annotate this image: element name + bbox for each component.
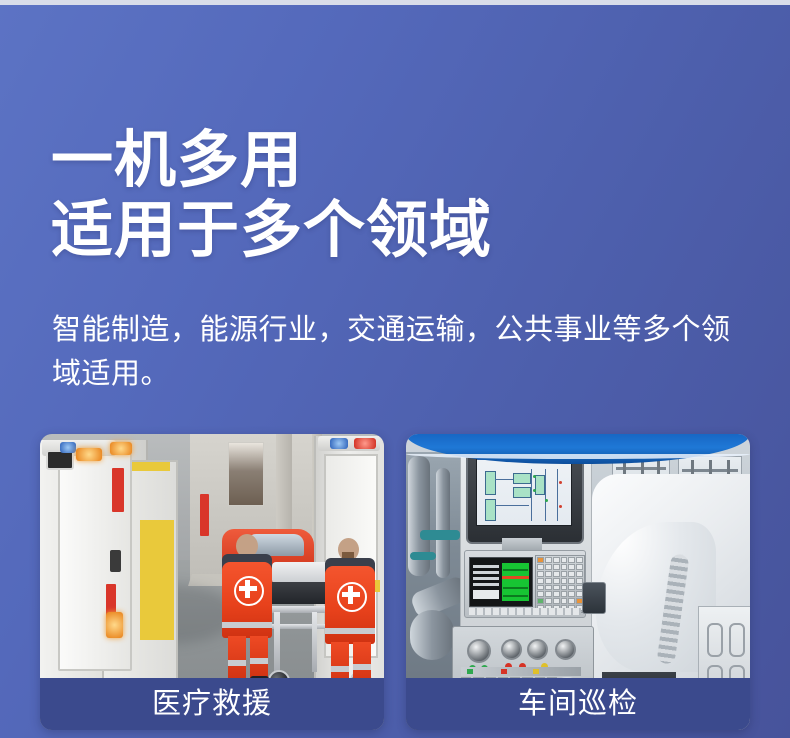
- card-caption-medical-rescue: 医疗救援: [40, 678, 384, 730]
- scenario-card-medical-rescue[interactable]: 医疗救援: [40, 434, 384, 730]
- headline-line-2: 适用于多个领域: [51, 196, 492, 266]
- headline-line-1: 一机多用: [51, 126, 492, 196]
- card-caption-workshop-inspection: 车间巡检: [406, 678, 750, 730]
- promo-banner: 一机多用 适用于多个领域 智能制造，能源行业，交通运输，公共事业等多个领域适用。: [0, 0, 790, 738]
- scenario-card-list: 医疗救援: [40, 434, 750, 730]
- top-edge-strip: [0, 0, 790, 5]
- scenario-card-workshop-inspection[interactable]: 车间巡检: [406, 434, 750, 730]
- subtitle-text: 智能制造，能源行业，交通运输，公共事业等多个领域适用。: [52, 308, 758, 396]
- cnc-control-panel: [464, 550, 586, 618]
- page-title: 一机多用 适用于多个领域: [51, 126, 492, 266]
